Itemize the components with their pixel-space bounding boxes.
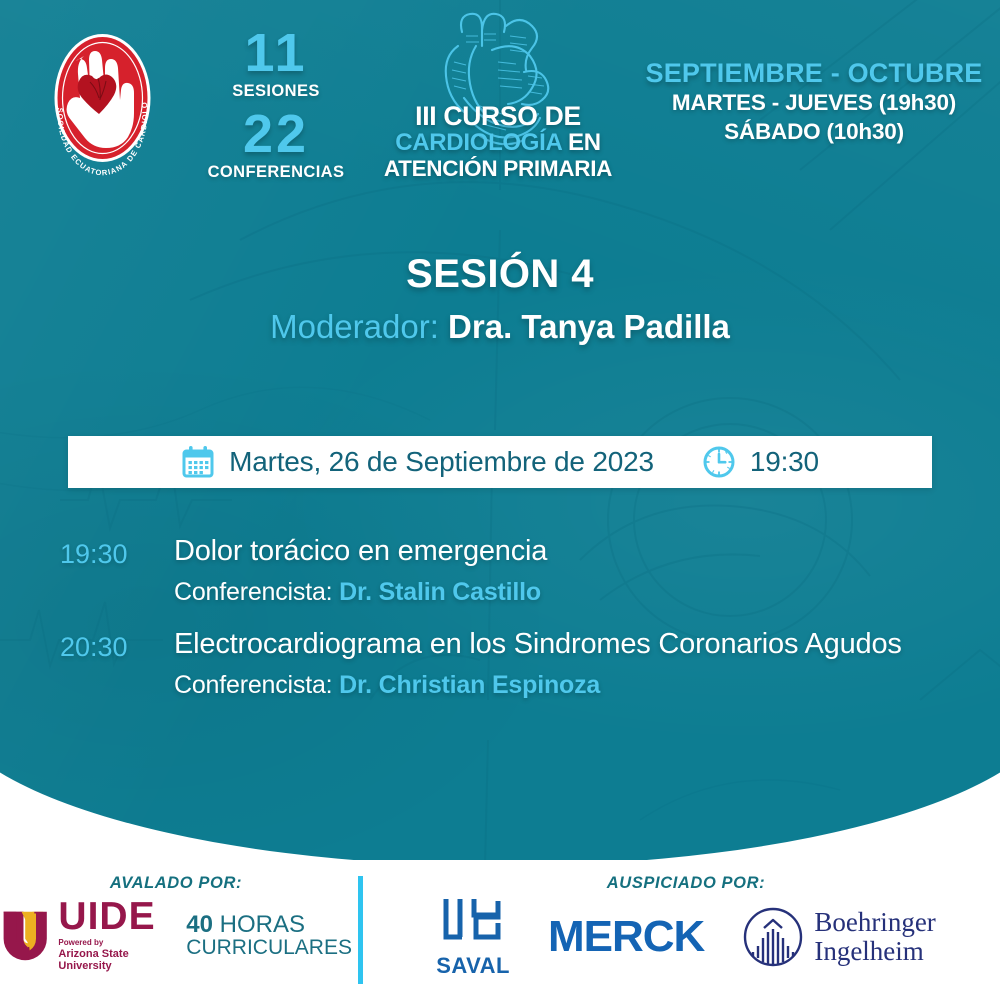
endorsed-section: AVALADO POR: UIDE Powered by xyxy=(0,860,352,1000)
talk-item: 20:30 Electrocardiograma en los Sindrome… xyxy=(60,629,950,700)
boehringer-ingelheim-logo: Boehringer Ingelheim xyxy=(742,906,935,968)
boehringer-wordmark: Boehringer Ingelheim xyxy=(814,908,935,965)
credit-hours-unit: HORAS xyxy=(213,911,305,938)
moderator-name: Dra. Tanya Padilla xyxy=(448,308,730,345)
session-date: Martes, 26 de Septiembre de 2023 xyxy=(229,446,654,478)
sponsored-heading: AUSPICIADO POR: xyxy=(372,874,1000,893)
credit-hours: 40 HORAS CURRICULARES xyxy=(186,913,352,959)
talk-body: Electrocardiograma en los Sindromes Coro… xyxy=(174,629,950,700)
course-schedule-block: SEPTIEMBRE - OCTUBRE MARTES - JUEVES (19… xyxy=(628,58,1000,147)
endorsed-heading: AVALADO POR: xyxy=(0,874,352,893)
uide-logo: UIDE Powered by Arizona State University xyxy=(0,899,172,972)
boehringer-line1: Boehringer xyxy=(814,908,935,937)
uide-wordmark: UIDE xyxy=(58,899,172,935)
talk-speaker-line: Conferencista: Dr. Stalin Castillo xyxy=(174,578,950,607)
endorsed-logos-row: UIDE Powered by Arizona State University… xyxy=(0,899,352,972)
schedule-weekday-line2: SÁBADO (10h30) xyxy=(628,118,1000,147)
clock-icon xyxy=(702,445,736,479)
conferences-label: CONFERENCIAS xyxy=(196,163,356,182)
course-title-line3: ATENCIÓN PRIMARIA xyxy=(372,156,624,181)
schedule-months: SEPTIEMBRE - OCTUBRE xyxy=(628,58,1000,89)
uide-university: Arizona State University xyxy=(58,948,172,972)
uide-text-block: UIDE Powered by Arizona State University xyxy=(58,899,172,972)
course-title-line1: III CURSO DE xyxy=(372,102,624,130)
talk-title: Dolor torácico en emergencia xyxy=(174,536,950,568)
talk-title: Electrocardiograma en los Sindromes Coro… xyxy=(174,629,950,661)
sociedad-ecuatoriana-cardiologia-logo: SOCIEDAD ECUATORIANA DE CARDIOLOGIA xyxy=(40,18,165,178)
sessions-count: 11 xyxy=(196,28,356,80)
saval-wordmark: SAVAL xyxy=(436,953,510,979)
saval-logo: SAVAL xyxy=(436,895,510,979)
course-title-line2-rest: EN xyxy=(562,129,601,156)
credit-hours-line1: 40 HORAS xyxy=(186,913,305,937)
conferences-count: 22 xyxy=(196,109,356,161)
talk-speaker-label: Conferencista: xyxy=(174,578,332,606)
talk-speaker-label: Conferencista: xyxy=(174,671,332,699)
footer-divider xyxy=(358,876,363,984)
course-title-highlight: CARDIOLOGÍA xyxy=(395,129,561,156)
talk-speaker-line: Conferencista: Dr. Christian Espinoza xyxy=(174,671,950,700)
credit-hours-line2: CURRICULARES xyxy=(186,937,352,958)
merck-logo: MERCK xyxy=(548,912,704,962)
footer: AVALADO POR: UIDE Powered by xyxy=(0,860,1000,1000)
moderator-label: Moderador: xyxy=(270,308,439,345)
schedule-weekday-line1: MARTES - JUEVES (19h30) xyxy=(628,89,1000,118)
course-title-block: III CURSO DE CARDIOLOGÍA EN ATENCIÓN PRI… xyxy=(372,102,624,181)
date-bar: Martes, 26 de Septiembre de 2023 19:30 xyxy=(68,436,932,488)
sessions-label: SESIONES xyxy=(196,82,356,101)
credit-hours-number: 40 xyxy=(186,911,213,938)
talk-time: 20:30 xyxy=(60,629,156,662)
talk-body: Dolor torácico en emergencia Conferencis… xyxy=(174,536,950,607)
moderator-line: Moderador: Dra. Tanya Padilla xyxy=(0,306,1000,347)
talk-speaker-name: Dr. Stalin Castillo xyxy=(339,578,541,606)
saval-mark-icon xyxy=(441,895,505,951)
calendar-icon xyxy=(181,445,215,479)
sponsored-section: AUSPICIADO POR: SAVAL MERCK xyxy=(372,860,1000,1000)
session-time: 19:30 xyxy=(750,446,819,478)
talk-time: 19:30 xyxy=(60,536,156,569)
course-logo: III CURSO DE CARDIOLOGÍA EN ATENCIÓN PRI… xyxy=(372,6,624,211)
talk-list: 19:30 Dolor torácico en emergencia Confe… xyxy=(60,536,950,721)
uide-mark-icon xyxy=(0,905,50,967)
course-title-line2: CARDIOLOGÍA EN xyxy=(372,130,624,156)
conference-poster: SOCIEDAD ECUATORIANA DE CARDIOLOGIA 11 S… xyxy=(0,0,1000,1000)
talk-item: 19:30 Dolor torácico en emergencia Confe… xyxy=(60,536,950,607)
boehringer-mark-icon xyxy=(742,906,804,968)
session-title: SESIÓN 4 xyxy=(0,252,1000,297)
uide-powered-by: Powered by xyxy=(58,938,172,948)
boehringer-line2: Ingelheim xyxy=(814,937,935,966)
talk-speaker-name: Dr. Christian Espinoza xyxy=(339,671,600,699)
sponsor-logos-row: SAVAL MERCK xyxy=(372,895,1000,979)
counters: 11 SESIONES 22 CONFERENCIAS xyxy=(196,28,356,190)
